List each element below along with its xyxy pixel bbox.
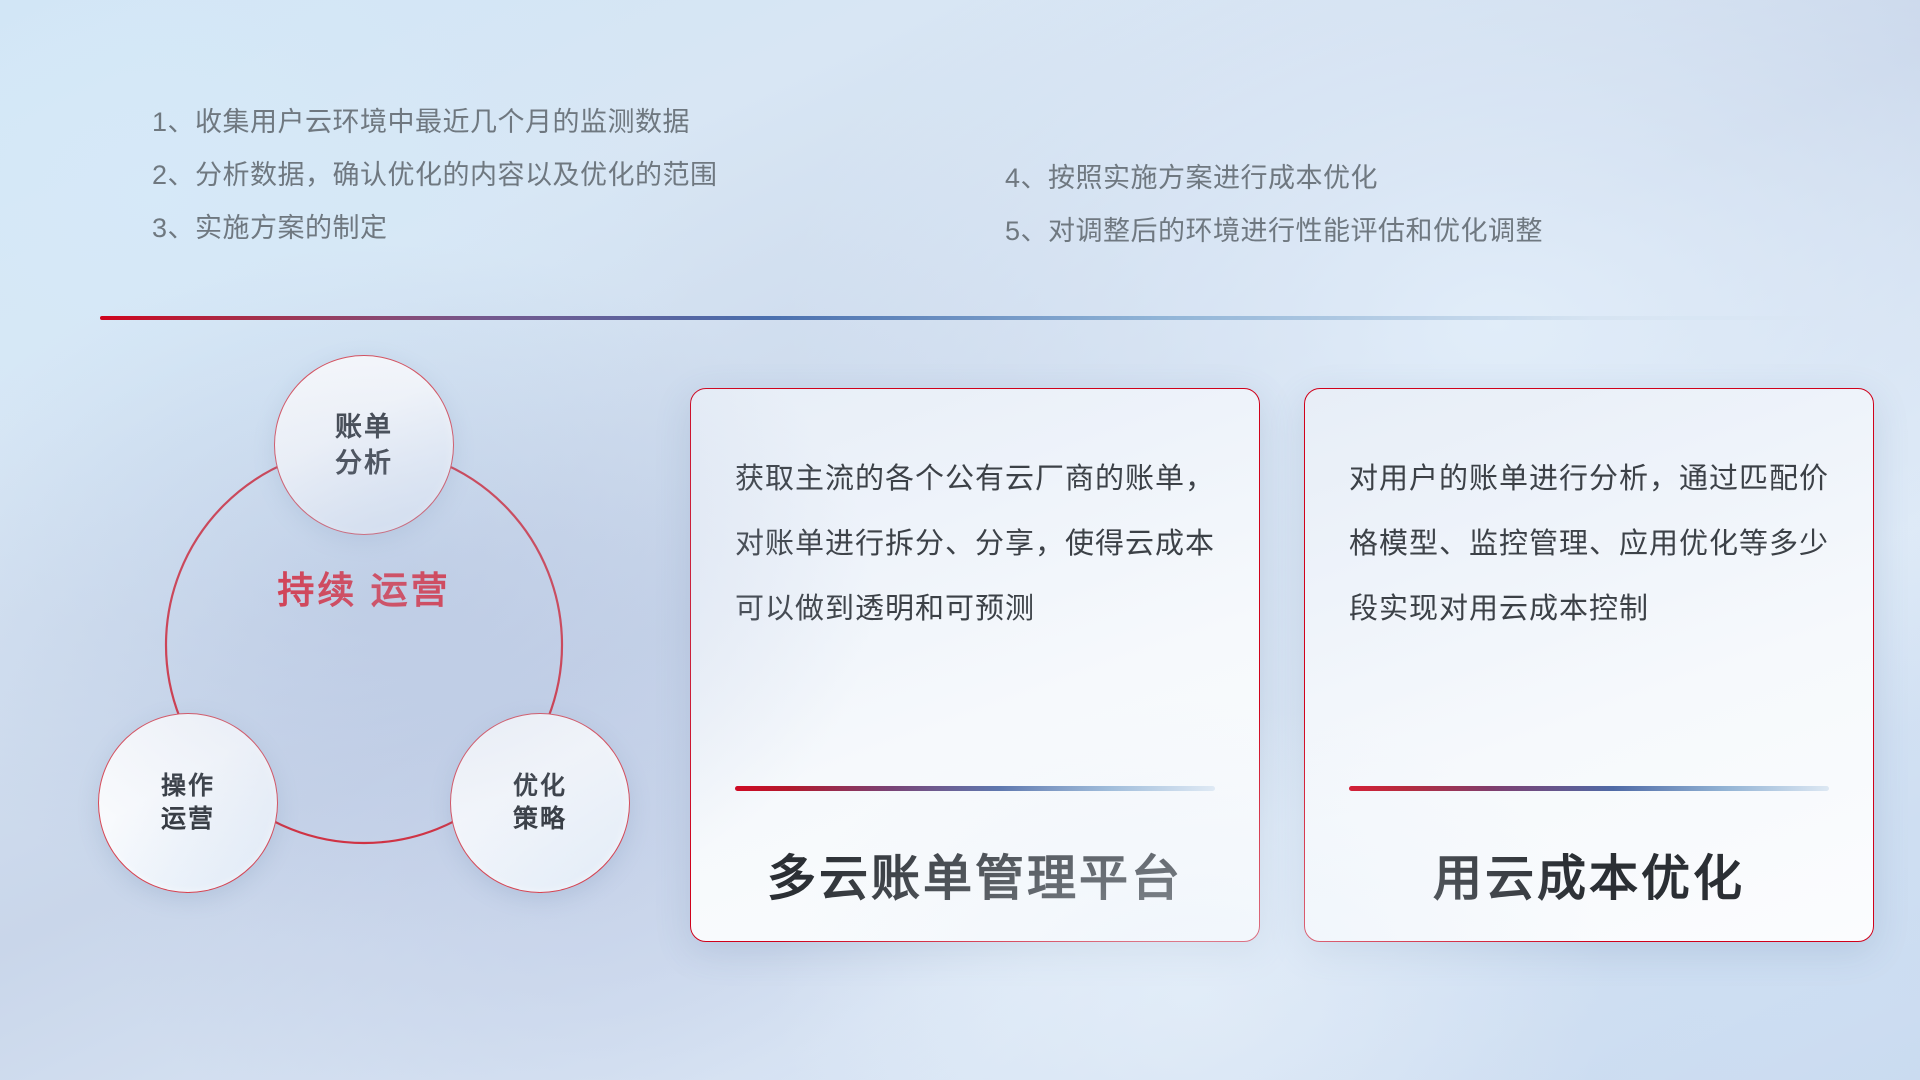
bubble-operation-line1: 操作 [161, 770, 215, 804]
center-label-line2: 运营 [371, 570, 451, 611]
bubble-operation-line2: 运营 [161, 803, 215, 837]
bubble-operation[interactable]: 操作 运营 [98, 713, 278, 893]
bubble-strategy-line2: 策略 [513, 803, 567, 837]
center-label-line1: 持续 [277, 570, 357, 611]
step-item-3: 3、实施方案的制定 [152, 202, 718, 255]
slide-canvas: 1、收集用户云环境中最近几个月的监测数据 2、分析数据，确认优化的内容以及优化的… [0, 0, 1920, 1080]
card-cloud-cost-optimization[interactable]: 对用户的账单进行分析，通过匹配价格模型、监控管理、应用优化等多少段实现对用云成本… [1304, 388, 1874, 942]
card-title: 多云账单管理平台 [735, 791, 1215, 941]
card-multi-cloud-billing-platform[interactable]: 获取主流的各个公有云厂商的账单，对账单进行拆分、分享，使得云成本可以做到透明和可… [690, 388, 1260, 942]
step-item-1: 1、收集用户云环境中最近几个月的监测数据 [152, 96, 718, 149]
continuous-operation-diagram: 账单 分析 操作 运营 优化 策略 持续 运营 [92, 355, 652, 955]
step-item-5: 5、对调整后的环境进行性能评估和优化调整 [1005, 205, 1543, 258]
step-item-2: 2、分析数据，确认优化的内容以及优化的范围 [152, 149, 718, 202]
gradient-divider-rule [100, 316, 1856, 320]
bubble-strategy-line1: 优化 [513, 770, 567, 804]
bubble-bill-analysis-line2: 分析 [335, 445, 393, 481]
steps-right-column: 4、按照实施方案进行成本优化 5、对调整后的环境进行性能评估和优化调整 [1005, 152, 1543, 258]
bubble-bill-analysis-line1: 账单 [335, 409, 393, 445]
card-title: 用云成本优化 [1349, 791, 1829, 941]
diagram-center-label: 持续 运营 [274, 567, 454, 614]
steps-left-column: 1、收集用户云环境中最近几个月的监测数据 2、分析数据，确认优化的内容以及优化的… [152, 96, 718, 255]
card-body-text: 获取主流的各个公有云厂商的账单，对账单进行拆分、分享，使得云成本可以做到透明和可… [735, 447, 1215, 707]
step-item-4: 4、按照实施方案进行成本优化 [1005, 152, 1543, 205]
bubble-strategy[interactable]: 优化 策略 [450, 713, 630, 893]
card-body-text: 对用户的账单进行分析，通过匹配价格模型、监控管理、应用优化等多少段实现对用云成本… [1349, 447, 1829, 707]
bubble-bill-analysis[interactable]: 账单 分析 [274, 355, 454, 535]
steps-section: 1、收集用户云环境中最近几个月的监测数据 2、分析数据，确认优化的内容以及优化的… [0, 96, 1920, 286]
